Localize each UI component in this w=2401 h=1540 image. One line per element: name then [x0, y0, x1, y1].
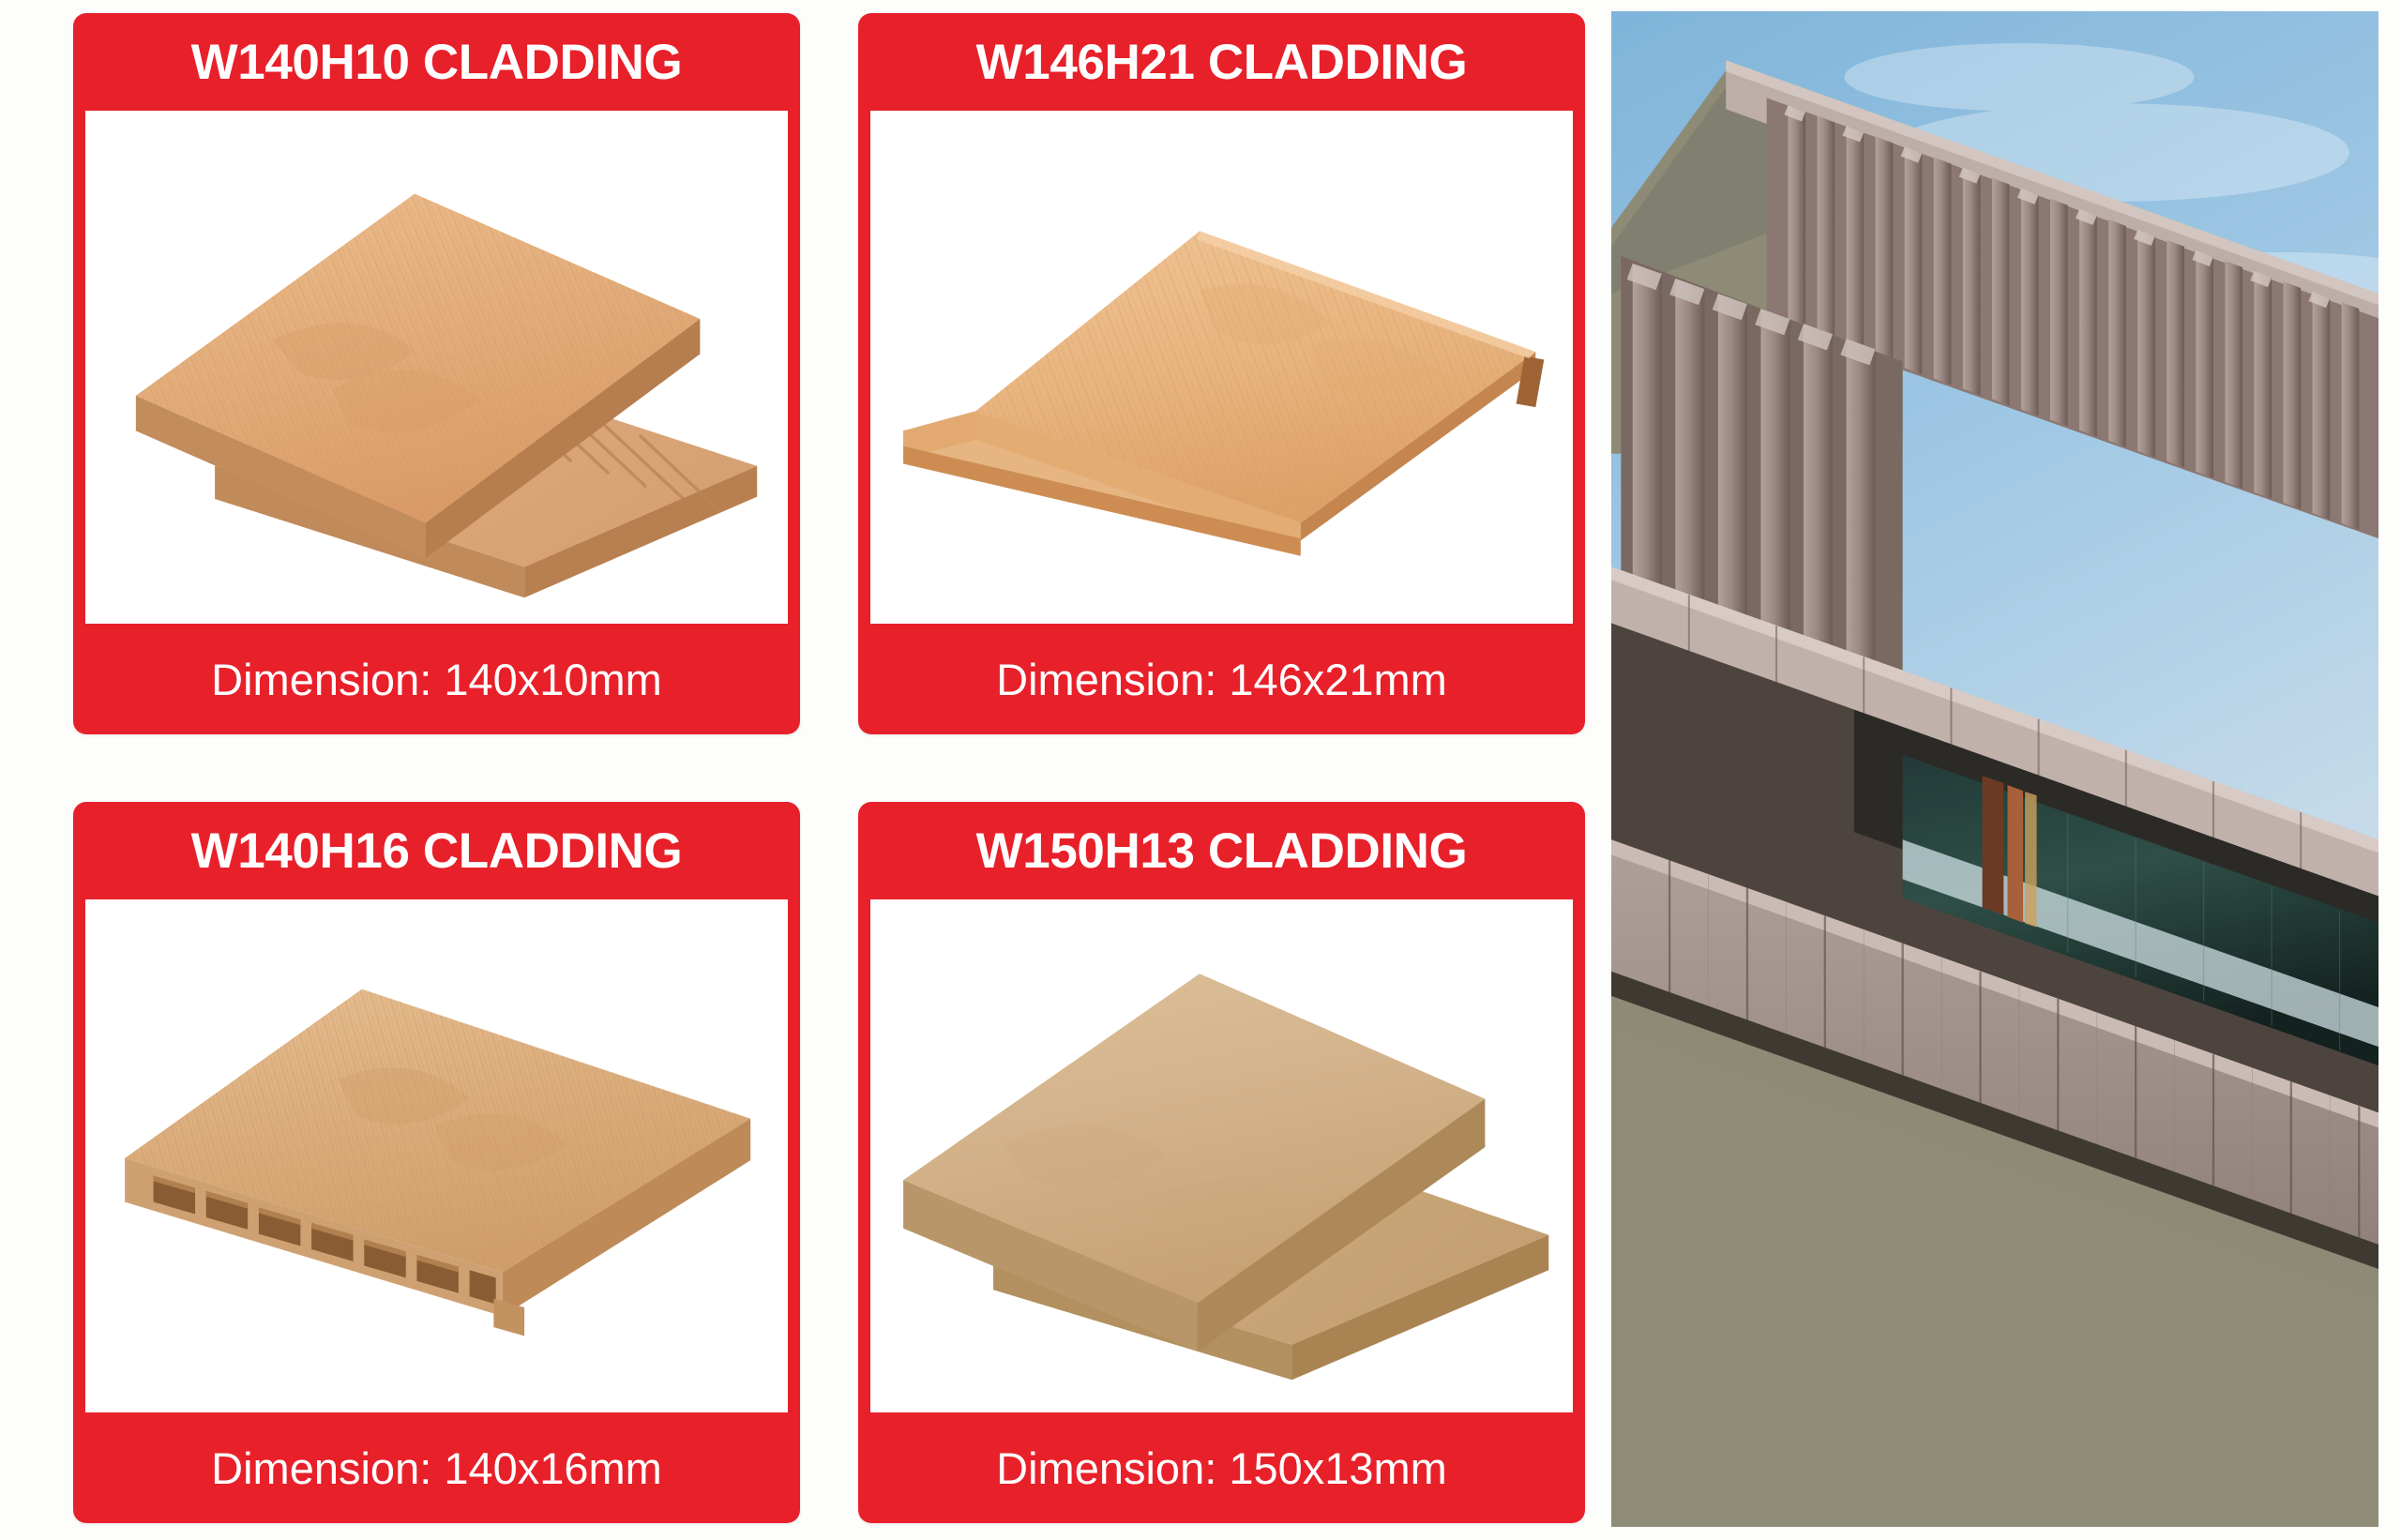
w140h10-product-photo — [85, 111, 788, 624]
product-image-w150h13 — [870, 899, 1573, 1412]
product-image-w140h10 — [85, 111, 788, 624]
product-card-grid: W140H10 CLADDING — [0, 0, 1611, 1540]
facade-photo-region — [1611, 0, 2401, 1540]
product-card-w150h13[interactable]: W150H13 CLADDING — [858, 802, 1585, 1523]
product-image-w140h16 — [85, 899, 788, 1412]
product-card-w140h16[interactable]: W140H16 CLADDING — [73, 802, 800, 1523]
w146h21-product-photo — [870, 111, 1573, 624]
product-title-w150h13: W150H13 CLADDING — [858, 802, 1585, 899]
product-dimension-w150h13: Dimension: 150x13mm — [858, 1412, 1585, 1523]
product-card-w146h21[interactable]: W146H21 CLADDING — [858, 13, 1585, 734]
product-title-w140h10: W140H10 CLADDING — [73, 13, 800, 111]
product-dimension-w140h16: Dimension: 140x16mm — [73, 1412, 800, 1523]
product-image-w146h21 — [870, 111, 1573, 624]
product-dimension-w140h10: Dimension: 140x10mm — [73, 624, 800, 734]
product-dimension-w146h21: Dimension: 146x21mm — [858, 624, 1585, 734]
product-title-w140h16: W140H16 CLADDING — [73, 802, 800, 899]
w150h13-product-photo — [870, 899, 1573, 1412]
product-showcase-page: W140H10 CLADDING — [0, 0, 2401, 1540]
product-card-w140h10[interactable]: W140H10 CLADDING — [73, 13, 800, 734]
w140h16-product-photo — [85, 899, 788, 1412]
building-facade-photo — [1611, 11, 2378, 1527]
product-title-w146h21: W146H21 CLADDING — [858, 13, 1585, 111]
